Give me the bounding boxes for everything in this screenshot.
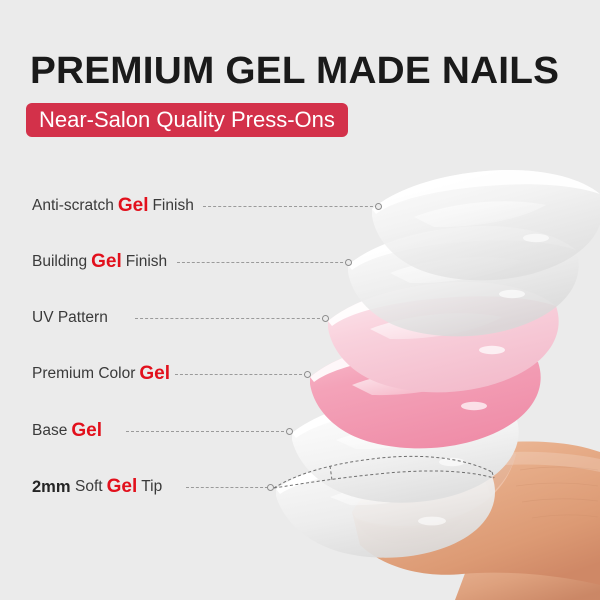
callout-building-gel-finish: Building Gel Finish bbox=[32, 250, 167, 274]
leader-endpoint-uv-pattern bbox=[322, 315, 329, 322]
leader-line-soft-gel-tip bbox=[186, 487, 268, 489]
base-gel-layer bbox=[292, 395, 519, 503]
tip-thickness-measure-dashes bbox=[274, 456, 494, 488]
callout-base-gel: Base Gel bbox=[32, 419, 106, 443]
callout-label-part: Premium Color bbox=[32, 365, 135, 383]
anti-scratch-gel-layer bbox=[372, 170, 600, 280]
callout-label-part: Anti-scratch bbox=[32, 197, 114, 215]
callout-label-part: UV Pattern bbox=[32, 309, 108, 327]
callout-anti-scratch-gel-finish: Anti-scratch Gel Finish bbox=[32, 194, 194, 218]
callout-label-accent: Gel bbox=[67, 420, 106, 442]
callout-premium-color-gel: Premium Color Gel bbox=[32, 362, 174, 386]
uv-pattern-layer bbox=[328, 282, 559, 392]
page-title: PREMIUM GEL MADE NAILS bbox=[30, 51, 559, 91]
leader-line-base-gel bbox=[126, 431, 289, 433]
leader-endpoint-base-gel bbox=[286, 428, 293, 435]
callout-label-part: Tip bbox=[141, 478, 162, 496]
premium-color-gel-layer bbox=[310, 338, 541, 448]
callout-label-accent: Gel bbox=[135, 363, 174, 385]
leader-endpoint-anti-scratch bbox=[375, 203, 382, 210]
callout-label-part: Base bbox=[32, 422, 67, 440]
callout-label-accent: Gel bbox=[87, 251, 126, 273]
leader-line-anti-scratch bbox=[203, 206, 378, 208]
callout-label-part: Finish bbox=[126, 253, 167, 271]
callout-label-accent: Gel bbox=[103, 476, 142, 498]
leader-endpoint-soft-gel-tip bbox=[267, 484, 274, 491]
callout-label-part: Soft bbox=[75, 478, 103, 496]
callout-label-part: Building bbox=[32, 253, 87, 271]
building-gel-layer bbox=[348, 226, 579, 336]
soft-gel-tip-layer bbox=[276, 456, 495, 557]
leader-line-uv-pattern bbox=[135, 318, 325, 320]
callout-label-part: Finish bbox=[152, 197, 193, 215]
subtitle-badge: Near-Salon Quality Press-Ons bbox=[26, 103, 348, 137]
leader-endpoint-premium-color bbox=[304, 371, 311, 378]
callout-label-accent: Gel bbox=[114, 195, 153, 217]
callout-uv-pattern: UV Pattern bbox=[32, 306, 108, 330]
leader-line-building bbox=[177, 262, 348, 264]
product-infographic: PREMIUM GEL MADE NAILS Near-Salon Qualit… bbox=[0, 0, 600, 600]
leader-endpoint-building bbox=[345, 259, 352, 266]
finger-illustration bbox=[352, 441, 600, 600]
callout-soft-gel-tip: 2mm Soft Gel Tip bbox=[32, 475, 162, 499]
leader-line-premium-color bbox=[175, 374, 307, 376]
callout-label-measure: 2mm bbox=[32, 478, 71, 497]
